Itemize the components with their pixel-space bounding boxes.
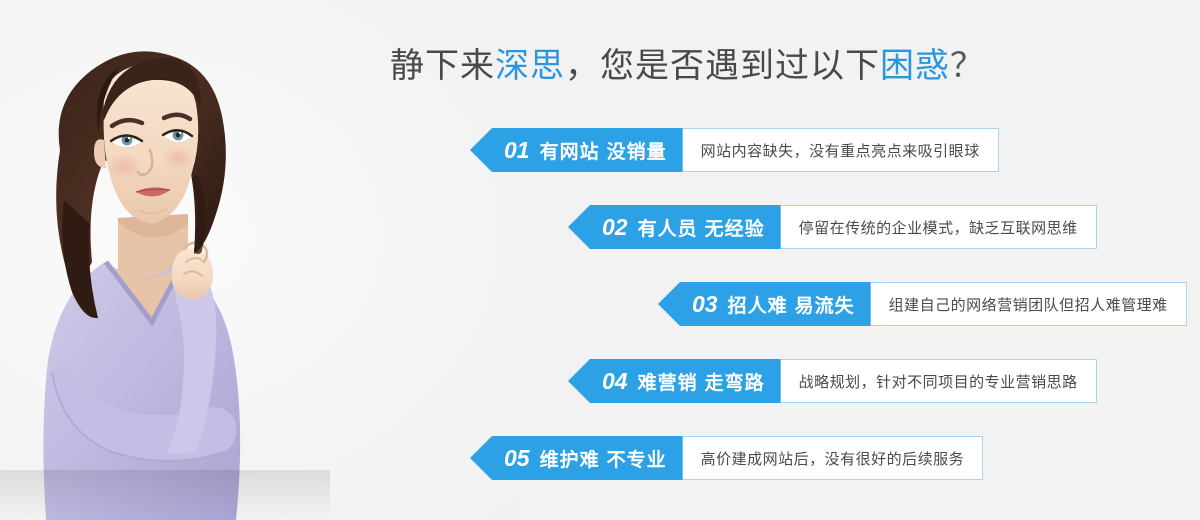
item-tag[interactable]: 01 有网站没销量 [470, 128, 683, 172]
item-tag[interactable]: 04 难营销走弯路 [568, 359, 781, 403]
item-keyword-a: 有人员 [638, 219, 698, 240]
item-keyword: 难营销走弯路 [638, 368, 765, 395]
item-keyword-b: 不专业 [607, 450, 667, 471]
item-keyword: 有网站没销量 [540, 137, 667, 164]
item-number: 01 [504, 139, 530, 162]
item-number: 02 [602, 216, 628, 239]
item-keyword-b: 易流失 [795, 296, 855, 317]
list-item[interactable]: 05 维护难不专业 高价建成网站后，没有很好的后续服务 [470, 436, 983, 480]
banner-stage: 静下来深思，您是否遇到过以下困惑？ 01 有网站没销量 网站内容缺失，没有重点亮… [0, 0, 1200, 520]
item-number: 05 [504, 447, 530, 470]
list-item[interactable]: 02 有人员无经验 停留在传统的企业模式，缺乏互联网思维 [568, 205, 1097, 249]
item-tag[interactable]: 03 招人难易流失 [658, 282, 871, 326]
item-keyword-b: 走弯路 [705, 373, 765, 394]
item-keyword-b: 无经验 [705, 219, 765, 240]
item-keyword-a: 维护难 [540, 450, 600, 471]
title-part-2: ，您是否遇到过以下 [565, 47, 880, 85]
thoughtful-woman-photo [0, 0, 330, 520]
item-tag[interactable]: 05 维护难不专业 [470, 436, 683, 480]
item-keyword: 招人难易流失 [728, 291, 855, 318]
item-description: 组建自己的网络营销团队但招人难管理难 [871, 282, 1187, 326]
item-tag[interactable]: 02 有人员无经验 [568, 205, 781, 249]
item-description: 网站内容缺失，没有重点亮点来吸引眼球 [683, 128, 999, 172]
item-description: 战略规划，针对不同项目的专业营销思路 [781, 359, 1097, 403]
item-keyword-a: 有网站 [540, 142, 600, 163]
item-keyword: 维护难不专业 [540, 445, 667, 472]
title-accent-1: 深思 [495, 47, 565, 85]
list-item[interactable]: 01 有网站没销量 网站内容缺失，没有重点亮点来吸引眼球 [470, 128, 999, 172]
item-number: 03 [692, 293, 718, 316]
item-keyword-a: 难营销 [638, 373, 698, 394]
item-number: 04 [602, 370, 628, 393]
item-keyword: 有人员无经验 [638, 214, 765, 241]
item-description: 停留在传统的企业模式，缺乏互联网思维 [781, 205, 1097, 249]
item-description: 高价建成网站后，没有很好的后续服务 [683, 436, 984, 480]
title-accent-2: 困惑 [880, 47, 950, 85]
list-item[interactable]: 03 招人难易流失 组建自己的网络营销团队但招人难管理难 [658, 282, 1187, 326]
item-keyword-b: 没销量 [607, 142, 667, 163]
title-part-1: 静下来 [390, 47, 495, 85]
title-part-3: ？ [950, 47, 985, 85]
list-item[interactable]: 04 难营销走弯路 战略规划，针对不同项目的专业营销思路 [568, 359, 1097, 403]
page-title: 静下来深思，您是否遇到过以下困惑？ [390, 40, 1040, 92]
item-keyword-a: 招人难 [728, 296, 788, 317]
